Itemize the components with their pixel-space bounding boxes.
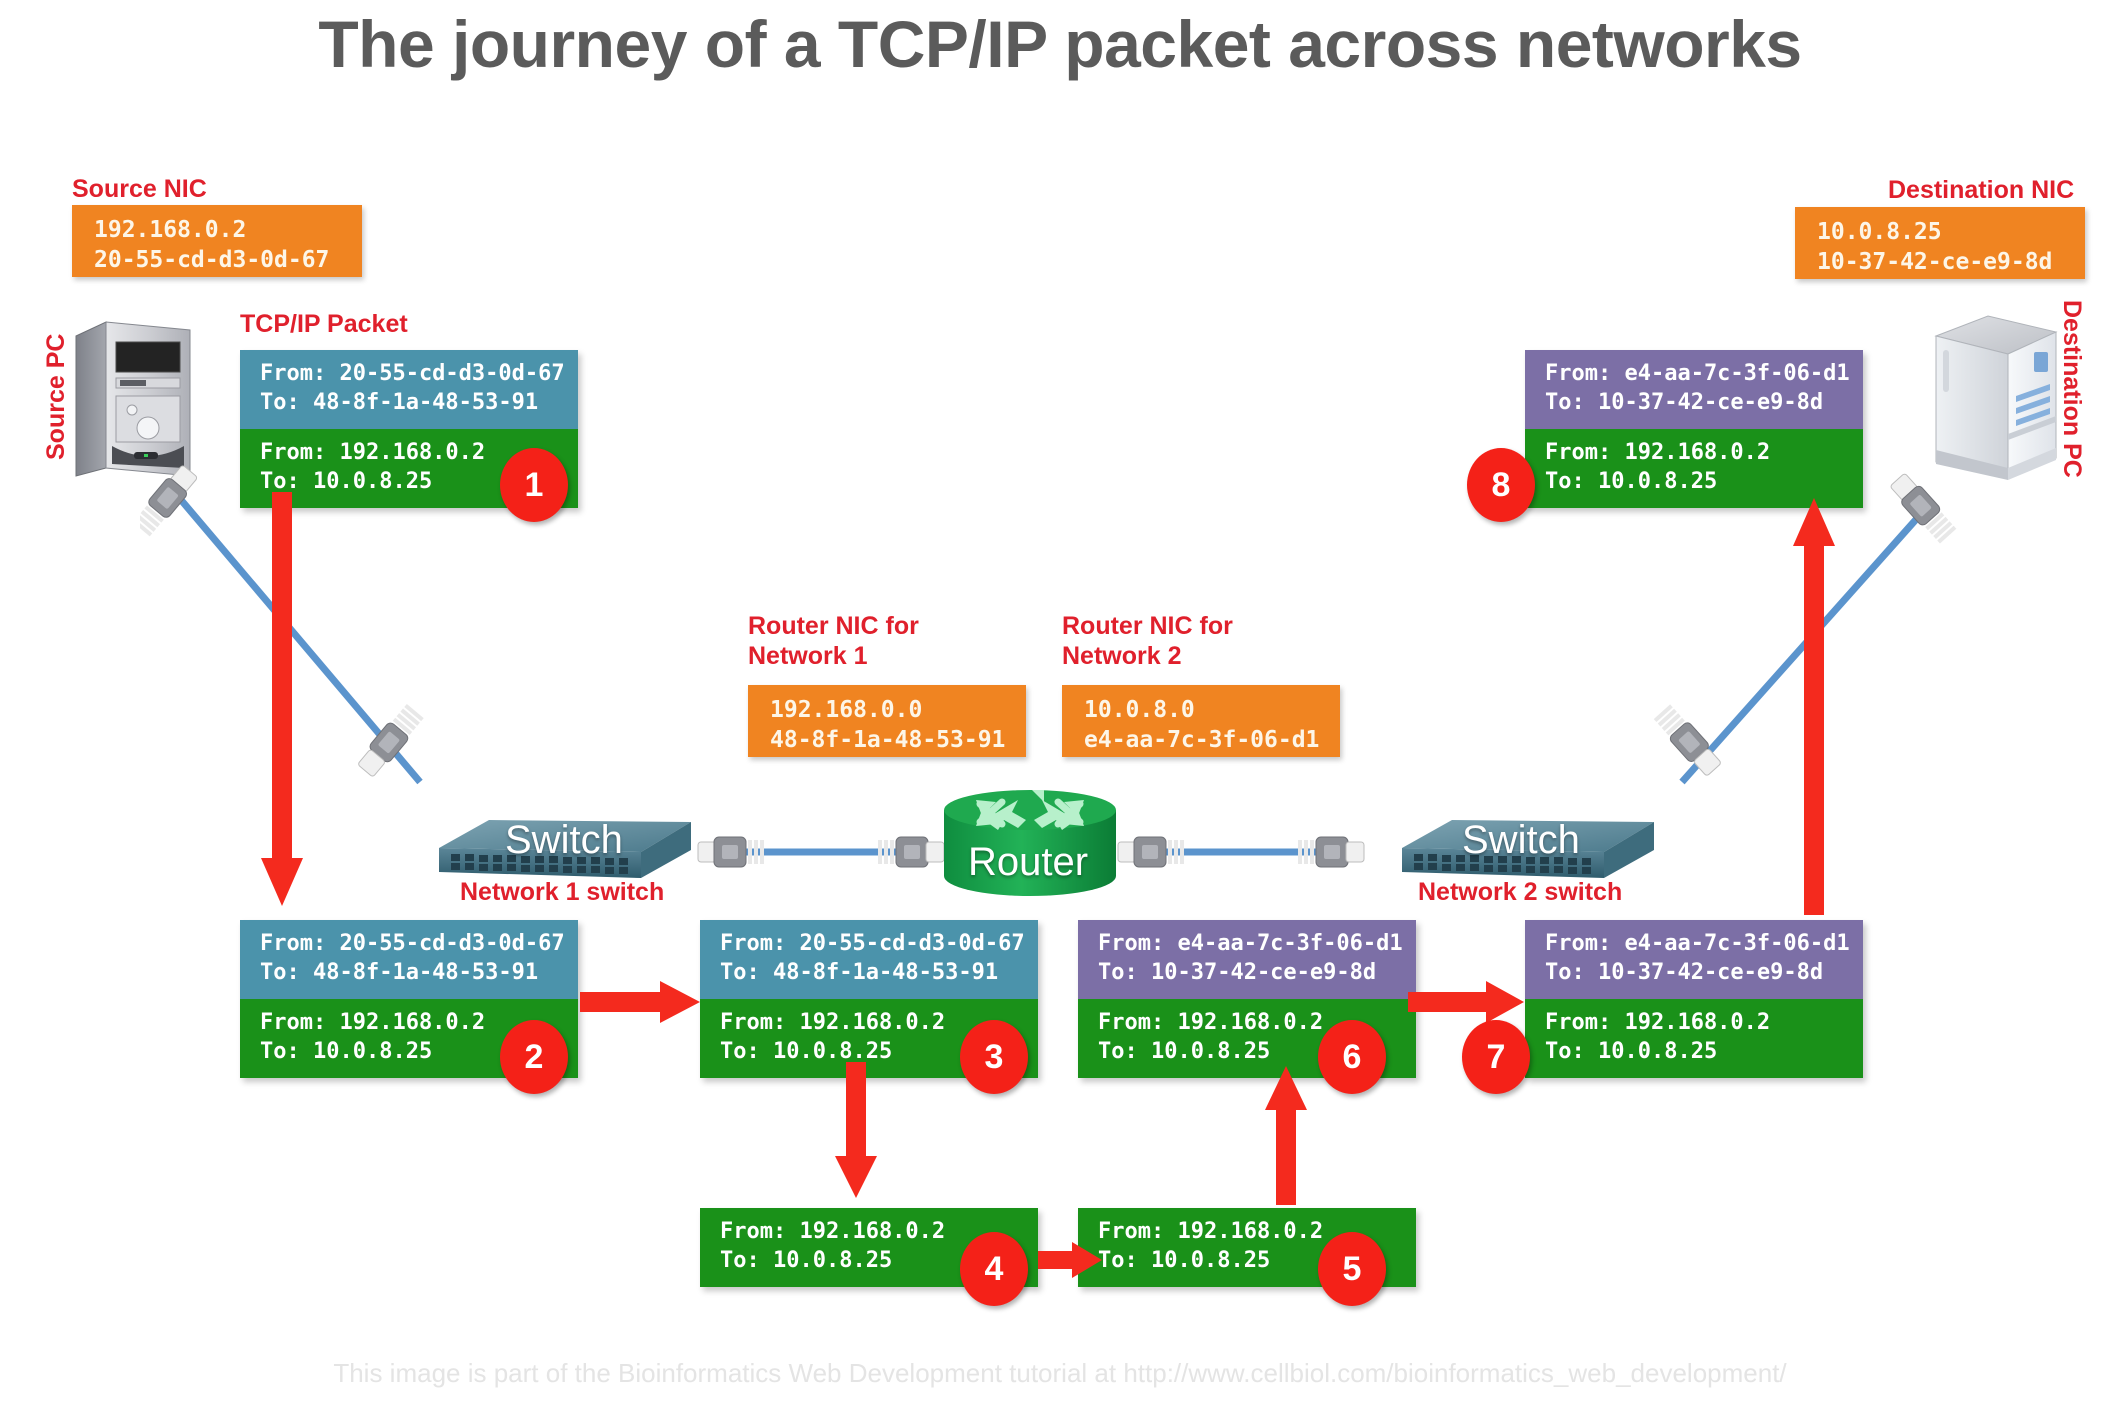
router-nic2-label: Router NIC for Network 2	[1062, 612, 1233, 671]
packet-3-ethernet-header: From: 20-55-cd-d3-0d-67 To: 48-8f-1a-48-…	[700, 920, 1038, 999]
step-badge-8: 8	[1467, 448, 1535, 522]
destination-nic-label: Destination NIC	[1888, 176, 2074, 206]
packet-8-ip-from: From: 192.168.0.2	[1545, 439, 1847, 468]
source-nic-label: Source NIC	[72, 175, 207, 205]
packet-2-ethernet-header: From: 20-55-cd-d3-0d-67 To: 48-8f-1a-48-…	[240, 920, 578, 999]
packet-7-eth-from: From: e4-aa-7c-3f-06-d1	[1545, 930, 1847, 959]
arrow-step4-to-step5	[1038, 1238, 1104, 1282]
step-badge-6: 6	[1318, 1020, 1386, 1094]
cable-switch1-to-router	[696, 828, 946, 876]
switch-right-caption: Switch	[1462, 818, 1580, 863]
router-nic2-mac: e4-aa-7c-3f-06-d1	[1084, 726, 1322, 756]
source-pc-label: Source PC	[42, 334, 71, 460]
packet-8-eth-from: From: e4-aa-7c-3f-06-d1	[1545, 360, 1847, 389]
packet-8-ethernet-header: From: e4-aa-7c-3f-06-d1 To: 10-37-42-ce-…	[1525, 350, 1863, 429]
packet-8-eth-to: To: 10-37-42-ce-e9-8d	[1545, 389, 1847, 418]
source-pc-icon	[72, 318, 194, 483]
packet-6-eth-from: From: e4-aa-7c-3f-06-d1	[1098, 930, 1400, 959]
router-nic1-label: Router NIC for Network 1	[748, 612, 919, 671]
arrow-step3-to-step4	[832, 1062, 880, 1202]
step-badge-5: 5	[1318, 1232, 1386, 1306]
arrow-step5-to-step6	[1262, 1060, 1310, 1205]
packet-6-ethernet-header: From: e4-aa-7c-3f-06-d1 To: 10-37-42-ce-…	[1078, 920, 1416, 999]
packet-7: From: e4-aa-7c-3f-06-d1 To: 10-37-42-ce-…	[1525, 920, 1863, 1078]
source-nic-mac: 20-55-cd-d3-0d-67	[94, 246, 344, 276]
arrow-step1-to-step2	[258, 492, 306, 912]
router-nic1-box: 192.168.0.0 48-8f-1a-48-53-91	[748, 685, 1026, 757]
packet-6-eth-to: To: 10-37-42-ce-e9-8d	[1098, 959, 1400, 988]
source-nic-box: 192.168.0.2 20-55-cd-d3-0d-67	[72, 205, 362, 277]
packet-7-ip-payload: From: 192.168.0.2 To: 10.0.8.25	[1525, 999, 1863, 1078]
packet-1-eth-from: From: 20-55-cd-d3-0d-67	[260, 360, 562, 389]
router-nic2-box: 10.0.8.0 e4-aa-7c-3f-06-d1	[1062, 685, 1340, 757]
source-nic-ip: 192.168.0.2	[94, 216, 344, 246]
packet-3-eth-from: From: 20-55-cd-d3-0d-67	[720, 930, 1022, 959]
tcpip-packet-label: TCP/IP Packet	[240, 310, 408, 340]
packet-7-ethernet-header: From: e4-aa-7c-3f-06-d1 To: 10-37-42-ce-…	[1525, 920, 1863, 999]
network2-switch-label: Network 2 switch	[1418, 878, 1622, 908]
packet-7-ip-from: From: 192.168.0.2	[1545, 1009, 1847, 1038]
packet-1-ethernet-header: From: 20-55-cd-d3-0d-67 To: 48-8f-1a-48-…	[240, 350, 578, 429]
arrow-step7-to-step8	[1790, 490, 1838, 915]
arrow-step6-to-step7	[1408, 978, 1526, 1026]
diagram-canvas: The journey of a TCP/IP packet across ne…	[0, 0, 2120, 1411]
destination-pc-icon	[1930, 310, 2062, 485]
step-badge-1: 1	[500, 448, 568, 522]
step-badge-2: 2	[500, 1020, 568, 1094]
packet-2-eth-to: To: 48-8f-1a-48-53-91	[260, 959, 562, 988]
switch-left-caption: Switch	[505, 818, 623, 863]
packet-3-eth-to: To: 48-8f-1a-48-53-91	[720, 959, 1022, 988]
packet-7-ip-to: To: 10.0.8.25	[1545, 1038, 1847, 1067]
router-nic1-mac: 48-8f-1a-48-53-91	[770, 726, 1008, 756]
destination-nic-box: 10.0.8.25 10-37-42-ce-e9-8d	[1795, 207, 2085, 279]
destination-nic-mac: 10-37-42-ce-e9-8d	[1817, 248, 2067, 278]
footer-credit: This image is part of the Bioinformatics…	[0, 1358, 2120, 1389]
packet-2-eth-from: From: 20-55-cd-d3-0d-67	[260, 930, 562, 959]
destination-nic-ip: 10.0.8.25	[1817, 218, 2067, 248]
router-nic1-ip: 192.168.0.0	[770, 696, 1008, 726]
router-caption: Router	[968, 840, 1088, 885]
router-nic2-ip: 10.0.8.0	[1084, 696, 1322, 726]
arrow-step2-to-step3	[580, 978, 702, 1026]
step-badge-3: 3	[960, 1020, 1028, 1094]
cable-router-to-switch2	[1116, 828, 1366, 876]
packet-7-eth-to: To: 10-37-42-ce-e9-8d	[1545, 959, 1847, 988]
step-badge-7: 7	[1462, 1020, 1530, 1094]
packet-1-eth-to: To: 48-8f-1a-48-53-91	[260, 389, 562, 418]
step-badge-4: 4	[960, 1232, 1028, 1306]
network1-switch-label: Network 1 switch	[460, 878, 664, 908]
page-title: The journey of a TCP/IP packet across ne…	[0, 6, 2120, 82]
